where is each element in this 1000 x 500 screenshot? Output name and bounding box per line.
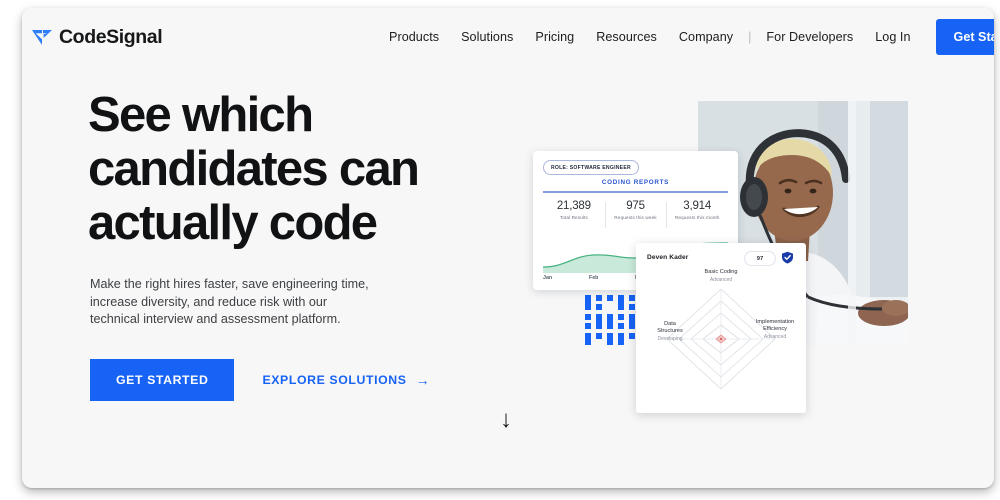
browser-window: CodeSignal Products Solutions Pricing Re… [22, 8, 994, 488]
get-started-button[interactable]: Get Started [936, 19, 994, 55]
nav-link-company[interactable]: Company [668, 30, 744, 44]
site-header: CodeSignal Products Solutions Pricing Re… [22, 8, 994, 66]
stat-value: 975 [605, 200, 667, 212]
radar-axis-data-structures: Data Structures Developing [642, 321, 698, 344]
stat-value: 21,389 [543, 200, 605, 212]
axis-level: Advanced [746, 334, 804, 341]
explore-solutions-link[interactable]: EXPLORE SOLUTIONS → [262, 373, 430, 387]
nav-link-for-developers[interactable]: For Developers [755, 30, 864, 44]
dot-grid-pattern-icon [583, 293, 641, 347]
nav-link-pricing[interactable]: Pricing [524, 30, 585, 44]
axis-level: Advanced [681, 277, 761, 284]
shield-check-icon [781, 251, 794, 264]
stat-total-results: 21,389 Total Results [543, 200, 605, 220]
x-tick-feb: Feb [589, 275, 635, 281]
axis-name: Basic Coding [705, 269, 738, 275]
explore-solutions-label: EXPLORE SOLUTIONS [262, 373, 406, 387]
axis-name: Implementation Efficiency [756, 319, 794, 332]
codesignal-logo-icon [31, 27, 53, 47]
hero-cta-row: GET STARTED EXPLORE SOLUTIONS → [90, 359, 508, 401]
candidate-skills-card: Deven Kader 97 [636, 243, 806, 413]
brand-name: CodeSignal [59, 26, 162, 49]
stat-label: Requests this month [666, 215, 728, 220]
nav-link-log-in[interactable]: Log In [864, 30, 921, 44]
axis-name: Data Structures [657, 321, 683, 334]
nav-link-solutions[interactable]: Solutions [450, 30, 524, 44]
arrow-down-icon[interactable]: ↓ [500, 408, 512, 432]
stat-label: Total Results [543, 215, 605, 220]
hero-subcopy: Make the right hires faster, save engine… [90, 276, 390, 329]
arrow-right-icon: → [416, 373, 431, 387]
stat-requests-week: 975 Requests this week [605, 200, 667, 220]
radar-axis-basic-coding: Basic Coding Advanced [681, 269, 761, 284]
nav-link-products[interactable]: Products [378, 30, 450, 44]
score-badge: 97 [744, 251, 776, 266]
role-badge: ROLE: SOFTWARE ENGINEER [543, 160, 639, 175]
coding-reports-title: CODING REPORTS [533, 179, 738, 186]
radar-axis-implementation-efficiency: Implementation Efficiency Advanced [746, 319, 804, 342]
nav-link-resources[interactable]: Resources [585, 30, 668, 44]
brand-logo[interactable]: CodeSignal [31, 26, 162, 49]
primary-nav: Products Solutions Pricing Resources Com… [378, 8, 994, 66]
stats-row: 21,389 Total Results 975 Requests this w… [543, 200, 728, 220]
candidate-name: Deven Kader [647, 254, 688, 261]
x-tick-jan: Jan [543, 275, 589, 281]
stat-requests-month: 3,914 Requests this month [666, 200, 728, 220]
page-title: See which candidates can actually code [88, 88, 508, 250]
axis-level: Developing [642, 336, 698, 343]
divider [543, 191, 728, 193]
hero-section: See which candidates can actually code M… [88, 88, 508, 401]
stat-label: Requests this week [605, 215, 667, 220]
stat-value: 3,914 [666, 200, 728, 212]
hero-get-started-button[interactable]: GET STARTED [90, 359, 234, 401]
nav-divider: | [744, 30, 755, 44]
radar-chart: Basic Coding Advanced Data Structures De… [636, 265, 806, 413]
